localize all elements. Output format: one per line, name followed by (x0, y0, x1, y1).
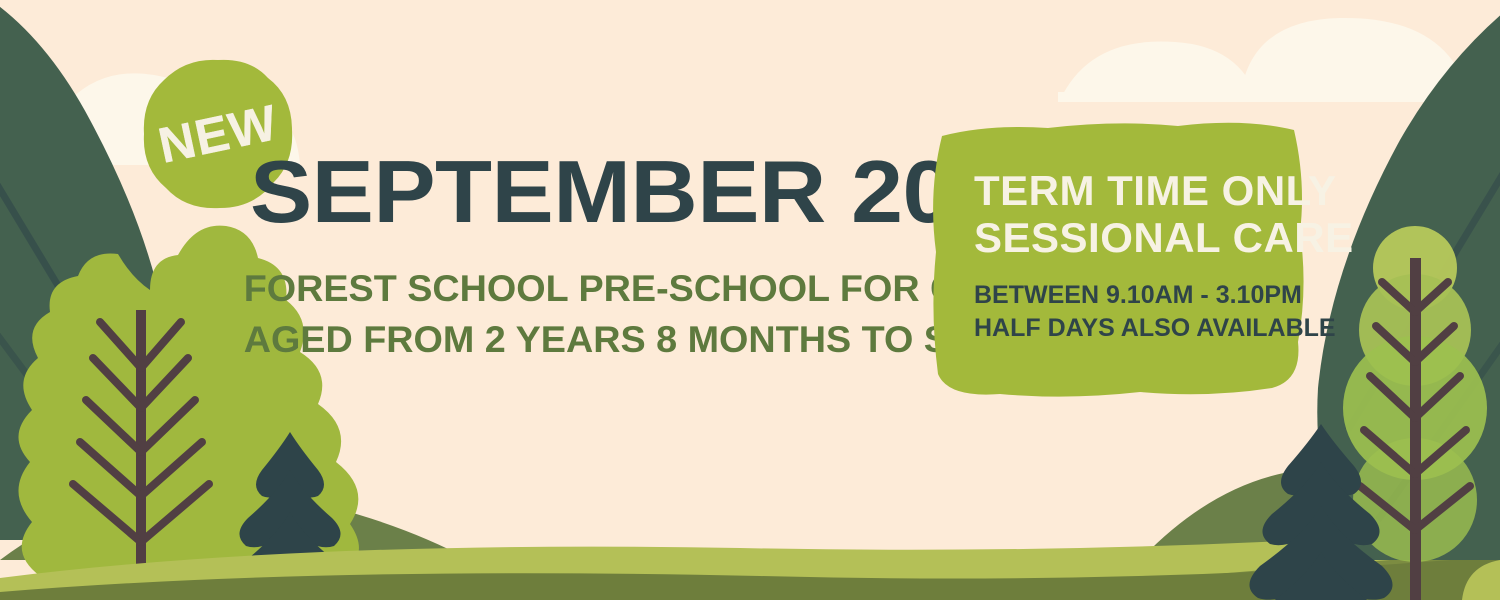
info-card-detail-line-2: HALF DAYS ALSO AVAILABLE (974, 312, 1308, 345)
headline-block: SEPTEMBER 2025 FOREST SCHOOL PRE-SCHOOL … (250, 152, 900, 365)
info-card-detail-line-1: BETWEEN 9.10AM - 3.10PM (974, 279, 1308, 312)
subheading-group: FOREST SCHOOL PRE-SCHOOL FOR CHILDREN AG… (250, 263, 880, 365)
forest-school-banner: NEW SEPTEMBER 2025 FOREST SCHOOL PRE-SCH… (0, 0, 1500, 600)
info-card: TERM TIME ONLY SESSIONAL CARE BETWEEN 9.… (928, 112, 1308, 400)
page-title: SEPTEMBER 2025 (250, 152, 939, 233)
info-card-heading-line-1: TERM TIME ONLY (974, 167, 1308, 214)
info-card-heading-line-2: SESSIONAL CARE (974, 214, 1308, 261)
subheading-line-2: AGED FROM 2 YEARS 8 MONTHS TO SCHOOL (244, 314, 887, 365)
subheading-line-1: FOREST SCHOOL PRE-SCHOOL FOR CHILDREN (244, 263, 887, 314)
info-card-detail-group: BETWEEN 9.10AM - 3.10PM HALF DAYS ALSO A… (974, 279, 1308, 345)
